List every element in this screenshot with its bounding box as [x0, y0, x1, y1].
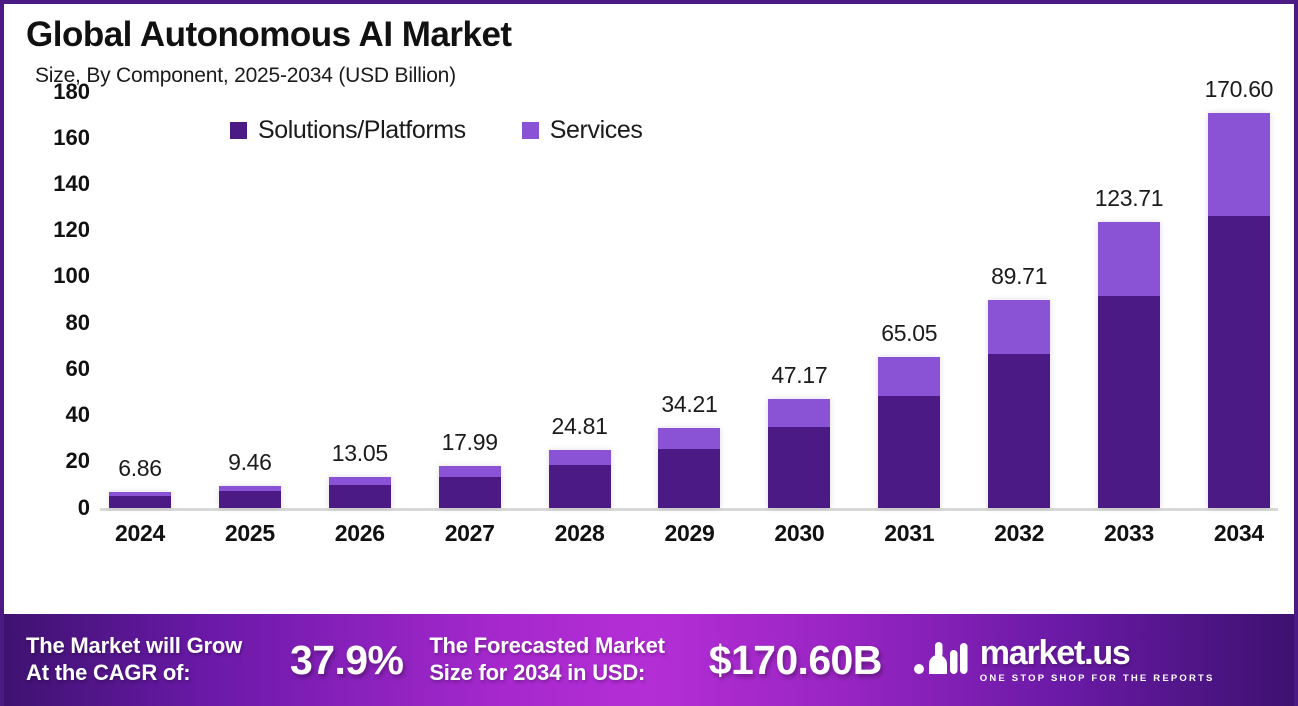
- x-axis-tick-label: 2025: [219, 520, 281, 547]
- bar-column[interactable]: 170.60: [1208, 92, 1270, 508]
- x-axis-tick-label: 2026: [329, 520, 391, 547]
- bar-column[interactable]: 17.99: [439, 92, 501, 508]
- bar-segment-solutions[interactable]: [329, 485, 391, 507]
- bar-stack[interactable]: [329, 477, 391, 507]
- bar-stack[interactable]: [1208, 113, 1270, 507]
- bar-segment-solutions[interactable]: [768, 427, 830, 508]
- bar-segment-solutions[interactable]: [439, 477, 501, 508]
- bar-segment-solutions[interactable]: [219, 491, 281, 507]
- bar-value-label: 170.60: [1205, 76, 1274, 103]
- brand-name: market.us: [980, 636, 1215, 670]
- bar-stack[interactable]: [219, 486, 281, 508]
- x-axis-labels: 2024202520262027202820292030203120322033…: [109, 520, 1270, 547]
- bar-segment-services[interactable]: [439, 466, 501, 477]
- legend-label-services: Services: [550, 116, 643, 145]
- chart-plot-area: Solutions/Platforms Services 02040608010…: [4, 92, 1294, 562]
- x-axis-tick-label: 2034: [1208, 520, 1270, 547]
- y-axis-tick: 60: [66, 356, 90, 382]
- y-axis-tick: 160: [53, 125, 90, 151]
- bar-segment-solutions[interactable]: [878, 396, 940, 507]
- bar-segment-services[interactable]: [658, 428, 720, 449]
- page-subtitle: Size, By Component, 2025-2034 (USD Billi…: [35, 64, 1294, 88]
- bar-segment-services[interactable]: [329, 477, 391, 485]
- y-axis-tick: 180: [53, 79, 90, 105]
- bar-segment-services[interactable]: [1098, 222, 1160, 296]
- forecast-label: The Forecasted Market Size for 2034 in U…: [429, 633, 664, 687]
- bar-stack[interactable]: [768, 399, 830, 508]
- square-swatch-icon: [230, 122, 247, 139]
- bar-column[interactable]: 13.05: [329, 92, 391, 508]
- x-axis-tick-label: 2027: [439, 520, 501, 547]
- x-axis-tick-label: 2033: [1098, 520, 1160, 547]
- forecast-value: $170.60B: [709, 637, 882, 684]
- bar-value-label: 24.81: [552, 413, 608, 440]
- brand-tagline: ONE STOP SHOP FOR THE REPORTS: [980, 673, 1215, 684]
- footer-banner: The Market will Grow At the CAGR of: 37.…: [4, 614, 1294, 706]
- bar-segment-solutions[interactable]: [988, 354, 1050, 507]
- header: Global Autonomous AI Market Size, By Com…: [4, 4, 1294, 88]
- forecast-label-line1: The Forecasted Market: [429, 633, 664, 660]
- y-axis-tick: 140: [53, 171, 90, 197]
- square-swatch-icon: [522, 122, 539, 139]
- x-axis-tick-label: 2030: [768, 520, 830, 547]
- bar-column[interactable]: 34.21: [658, 92, 720, 508]
- bar-column[interactable]: 89.71: [988, 92, 1050, 508]
- infographic-root: Global Autonomous AI Market Size, By Com…: [0, 0, 1298, 706]
- bar-column[interactable]: 6.86: [109, 92, 171, 508]
- legend-item-services[interactable]: Services: [522, 116, 643, 145]
- bar-segment-solutions[interactable]: [549, 465, 611, 507]
- x-axis-line: [100, 508, 1278, 511]
- bar-value-label: 17.99: [442, 429, 498, 456]
- x-axis-tick-label: 2032: [988, 520, 1050, 547]
- x-axis-tick-label: 2029: [658, 520, 720, 547]
- y-axis-tick: 100: [53, 263, 90, 289]
- bar-stack[interactable]: [549, 450, 611, 507]
- bar-segment-services[interactable]: [768, 399, 830, 427]
- bar-value-label: 47.17: [771, 362, 827, 389]
- bar-value-label: 6.86: [118, 455, 162, 482]
- bar-value-label: 65.05: [881, 320, 937, 347]
- bar-value-label: 89.71: [991, 263, 1047, 290]
- bar-column[interactable]: 65.05: [878, 92, 940, 508]
- bar-value-label: 123.71: [1095, 185, 1164, 212]
- y-axis-tick: 20: [66, 448, 90, 474]
- y-axis-tick: 0: [78, 495, 90, 521]
- chart-legend: Solutions/Platforms Services: [230, 116, 642, 145]
- y-axis-tick: 40: [66, 402, 90, 428]
- bar-stack[interactable]: [658, 428, 720, 507]
- y-axis-tick: 120: [53, 217, 90, 243]
- bar-segment-solutions[interactable]: [109, 496, 171, 508]
- y-axis-tick: 80: [66, 310, 90, 336]
- bar-column[interactable]: 9.46: [219, 92, 281, 508]
- bar-stack[interactable]: [1098, 222, 1160, 508]
- legend-label-solutions: Solutions/Platforms: [258, 116, 466, 145]
- bar-value-label: 34.21: [661, 391, 717, 418]
- bar-segment-solutions[interactable]: [658, 449, 720, 508]
- legend-item-solutions[interactable]: Solutions/Platforms: [230, 116, 466, 145]
- bar-series-container: 6.869.4613.0517.9924.8134.2147.1765.0589…: [109, 92, 1270, 508]
- bar-column[interactable]: 47.17: [768, 92, 830, 508]
- bar-column[interactable]: 123.71: [1098, 92, 1160, 508]
- market-us-bars-logo-icon: [914, 638, 968, 683]
- cagr-label-line2: At the CAGR of:: [26, 660, 242, 687]
- bar-segment-services[interactable]: [1208, 113, 1270, 216]
- brand-logo-text: market.us ONE STOP SHOP FOR THE REPORTS: [980, 636, 1215, 684]
- cagr-label-line1: The Market will Grow: [26, 633, 242, 660]
- bar-stack[interactable]: [878, 357, 940, 507]
- x-axis-tick-label: 2024: [109, 520, 171, 547]
- x-axis-tick-label: 2028: [549, 520, 611, 547]
- bar-segment-services[interactable]: [549, 450, 611, 465]
- x-axis-tick-label: 2031: [878, 520, 940, 547]
- brand-logo[interactable]: market.us ONE STOP SHOP FOR THE REPORTS: [914, 636, 1215, 684]
- bar-value-label: 13.05: [332, 440, 388, 467]
- bar-stack[interactable]: [988, 300, 1050, 507]
- bar-segment-solutions[interactable]: [1098, 296, 1160, 508]
- bar-stack[interactable]: [439, 466, 501, 508]
- cagr-value: 37.9%: [290, 637, 403, 684]
- page-title: Global Autonomous AI Market: [26, 16, 1294, 55]
- bar-value-label: 9.46: [228, 449, 272, 476]
- bar-segment-services[interactable]: [988, 300, 1050, 354]
- forecast-label-line2: Size for 2034 in USD:: [429, 660, 664, 687]
- bar-segment-solutions[interactable]: [1208, 216, 1270, 508]
- bar-column[interactable]: 24.81: [549, 92, 611, 508]
- cagr-label: The Market will Grow At the CAGR of:: [26, 633, 242, 687]
- y-axis: 020406080100120140160180: [24, 92, 90, 508]
- bar-stack[interactable]: [109, 492, 171, 508]
- bar-segment-services[interactable]: [878, 357, 940, 396]
